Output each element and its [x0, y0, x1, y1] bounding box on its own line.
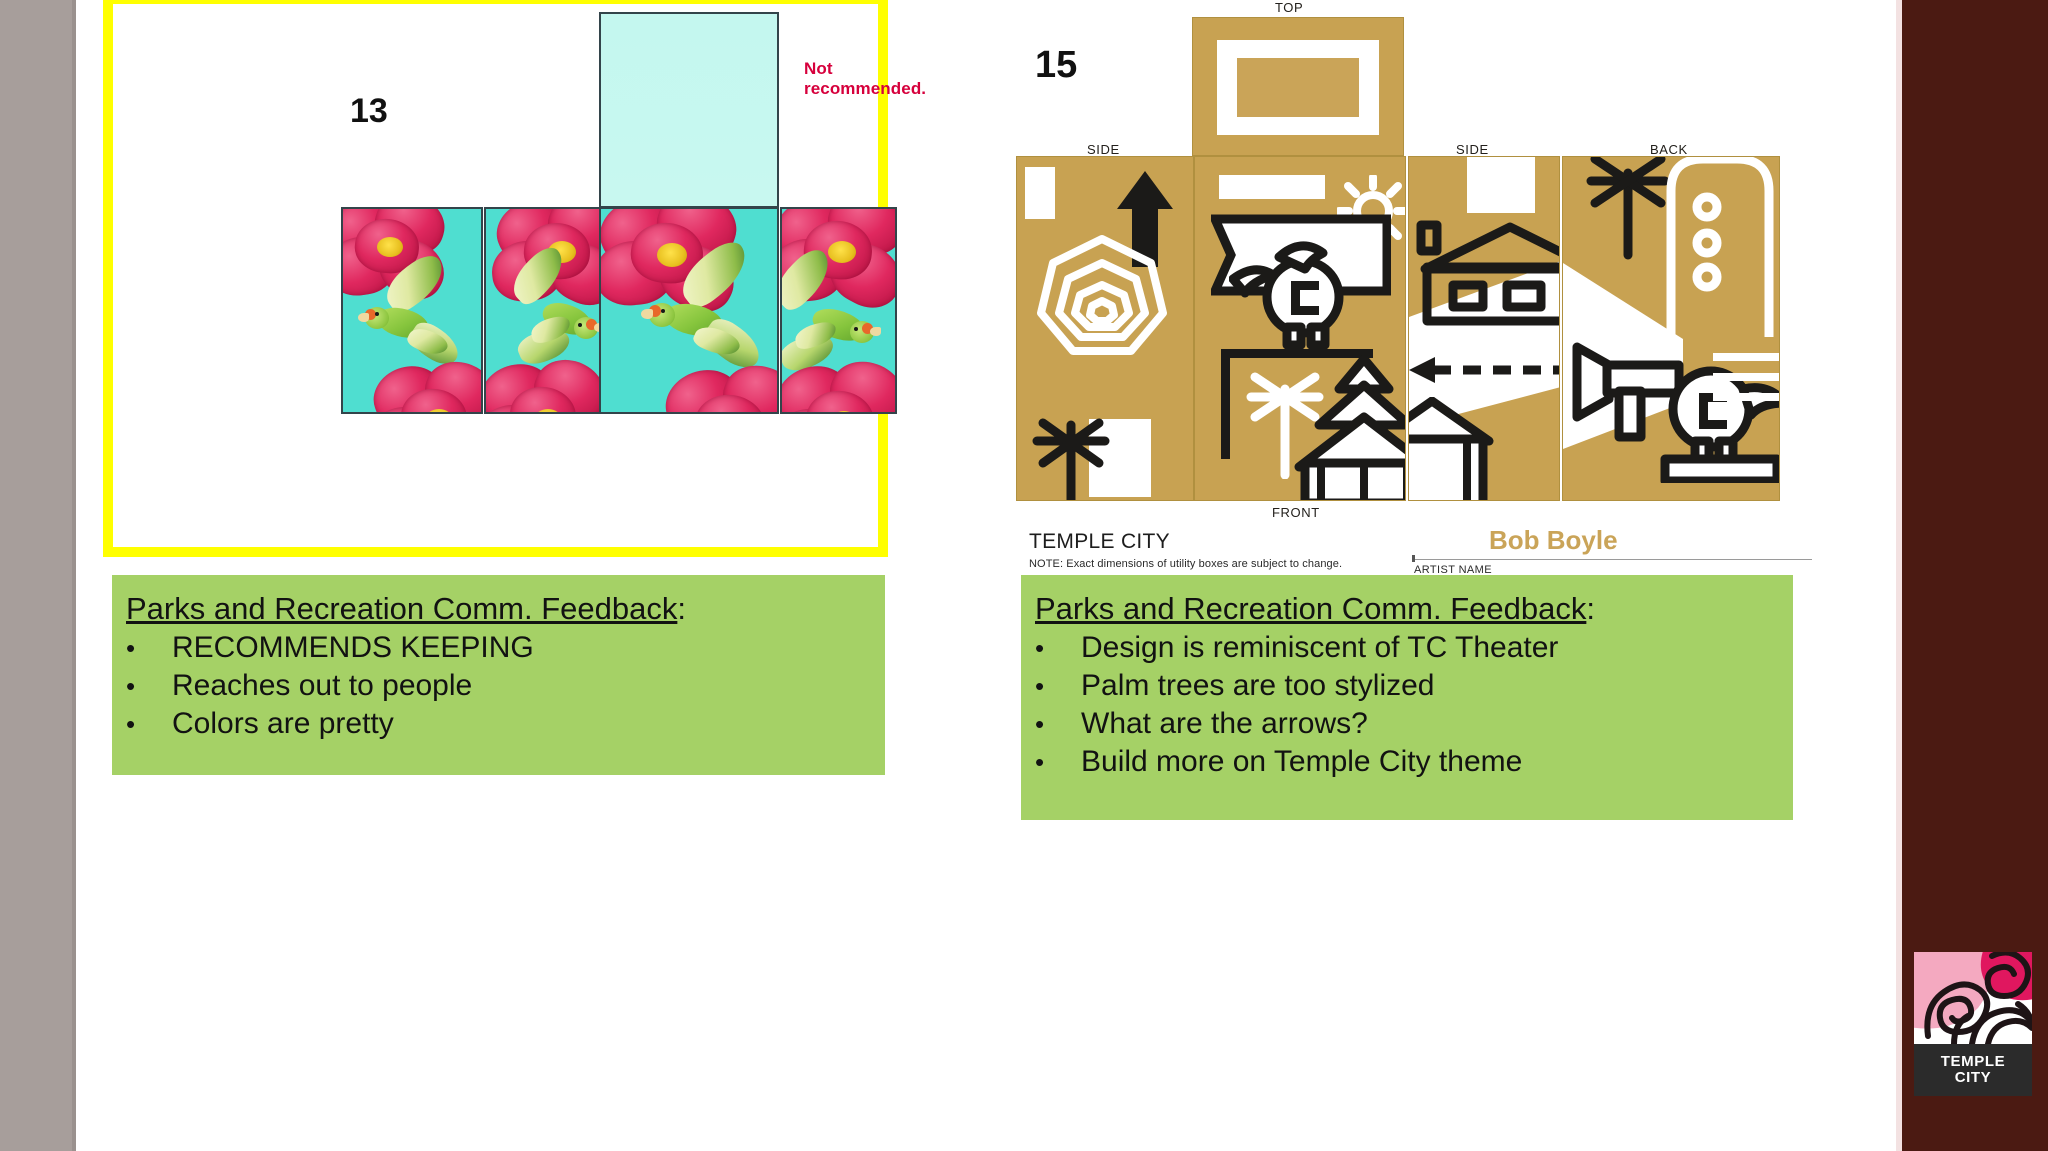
rose-icon	[1035, 233, 1169, 361]
feedback-heading: Parks and Recreation Comm. Feedback:	[1035, 591, 1793, 627]
design-15-number: 15	[1035, 44, 1077, 87]
logo-line-1: TEMPLE	[1941, 1054, 2005, 1070]
camellia-flower	[369, 359, 483, 414]
bird-figure-icon	[1229, 227, 1357, 353]
design-13-status-note: Not recommended.	[804, 59, 926, 99]
design-15-panel-side-right	[1408, 156, 1560, 501]
camellia-flower	[484, 357, 614, 414]
bullet-glyph: •	[126, 711, 172, 737]
list-item: •Build more on Temple City theme	[1035, 745, 1793, 779]
design-15-panel-top	[1192, 17, 1404, 156]
feedback-list: •Design is reminiscent of TC Theater •Pa…	[1021, 631, 1793, 779]
feedback-heading: Parks and Recreation Comm. Feedback:	[126, 591, 885, 627]
artist-name-tick	[1412, 555, 1415, 562]
list-item-text: RECOMMENDS KEEPING	[172, 631, 534, 665]
bird-figure-icon	[1655, 343, 1780, 483]
feedback-heading-colon: :	[1586, 591, 1595, 626]
bullet-glyph: •	[126, 635, 172, 661]
feedback-box-design-15: Parks and Recreation Comm. Feedback: •De…	[1021, 575, 1793, 820]
artist-name-rule	[1412, 559, 1812, 560]
dashed-arrow-left-icon	[1409, 353, 1560, 387]
list-item-text: Colors are pretty	[172, 707, 394, 741]
bullet-glyph: •	[1035, 749, 1081, 775]
panel-label-side-left: SIDE	[1087, 142, 1120, 157]
panel-label-top: TOP	[1275, 0, 1303, 15]
design-13-panel-top	[599, 12, 779, 208]
bullet-glyph: •	[1035, 635, 1081, 661]
design-15-artist-name: Bob Boyle	[1489, 525, 1618, 556]
feedback-heading-text: Parks and Recreation Comm. Feedback	[1035, 591, 1586, 626]
list-item-text: Palm trees are too stylized	[1081, 669, 1434, 703]
design-13-number: 13	[350, 92, 388, 131]
design-15-panel-back	[1562, 156, 1780, 501]
logo-wordmark: TEMPLE CITY	[1914, 1044, 2032, 1096]
design-13-panel-side-left	[341, 207, 483, 414]
bullet-glyph: •	[1035, 673, 1081, 699]
list-item: •What are the arrows?	[1035, 707, 1793, 741]
gazebo-icon	[1408, 397, 1497, 501]
logo-line-2: CITY	[1955, 1070, 1992, 1086]
feedback-box-design-13: Parks and Recreation Comm. Feedback: •RE…	[112, 575, 885, 775]
theater-building-icon	[1663, 156, 1780, 341]
panel-label-front: FRONT	[1272, 505, 1320, 520]
design-15-city-label: TEMPLE CITY	[1029, 530, 1170, 554]
bullet-glyph: •	[126, 673, 172, 699]
camellia-flower	[780, 359, 897, 414]
list-item-text: Build more on Temple City theme	[1081, 745, 1522, 779]
design-13-panel-back	[780, 207, 897, 414]
list-item-text: Reaches out to people	[172, 669, 472, 703]
slide-left-margin-band	[0, 0, 72, 1151]
feedback-heading-colon: :	[677, 591, 686, 626]
panel-label-back: BACK	[1650, 142, 1688, 157]
house-icon	[1415, 217, 1560, 327]
list-item: •Reaches out to people	[126, 669, 885, 703]
list-item-text: What are the arrows?	[1081, 707, 1368, 741]
design-15-panel-front	[1194, 156, 1406, 501]
list-item: •RECOMMENDS KEEPING	[126, 631, 885, 665]
list-item: •Design is reminiscent of TC Theater	[1035, 631, 1793, 665]
list-item: •Colors are pretty	[126, 707, 885, 741]
design-13-panel-front	[599, 207, 779, 414]
design-15-note: NOTE: Exact dimensions of utility boxes …	[1029, 558, 1342, 570]
feedback-heading-text: Parks and Recreation Comm. Feedback	[126, 591, 677, 626]
panel-label-side-right: SIDE	[1456, 142, 1489, 157]
logo-rose-art	[1914, 952, 2032, 1044]
temple-city-logo: TEMPLE CITY	[1914, 952, 2032, 1096]
bullet-glyph: •	[1035, 711, 1081, 737]
design-15-panel-side-left	[1016, 156, 1194, 501]
gazebo-icon	[1291, 355, 1406, 501]
palm-tree-icon	[1581, 156, 1675, 261]
palm-tree-icon	[1027, 415, 1115, 501]
camellia-flower	[661, 363, 779, 414]
list-item-text: Design is reminiscent of TC Theater	[1081, 631, 1558, 665]
design-13-highlight-frame: 13 Not recommended.	[103, 0, 888, 557]
list-item: •Palm trees are too stylized	[1035, 669, 1793, 703]
feedback-list: •RECOMMENDS KEEPING •Reaches out to peop…	[112, 631, 885, 741]
slide-left-margin-edge	[72, 0, 76, 1151]
